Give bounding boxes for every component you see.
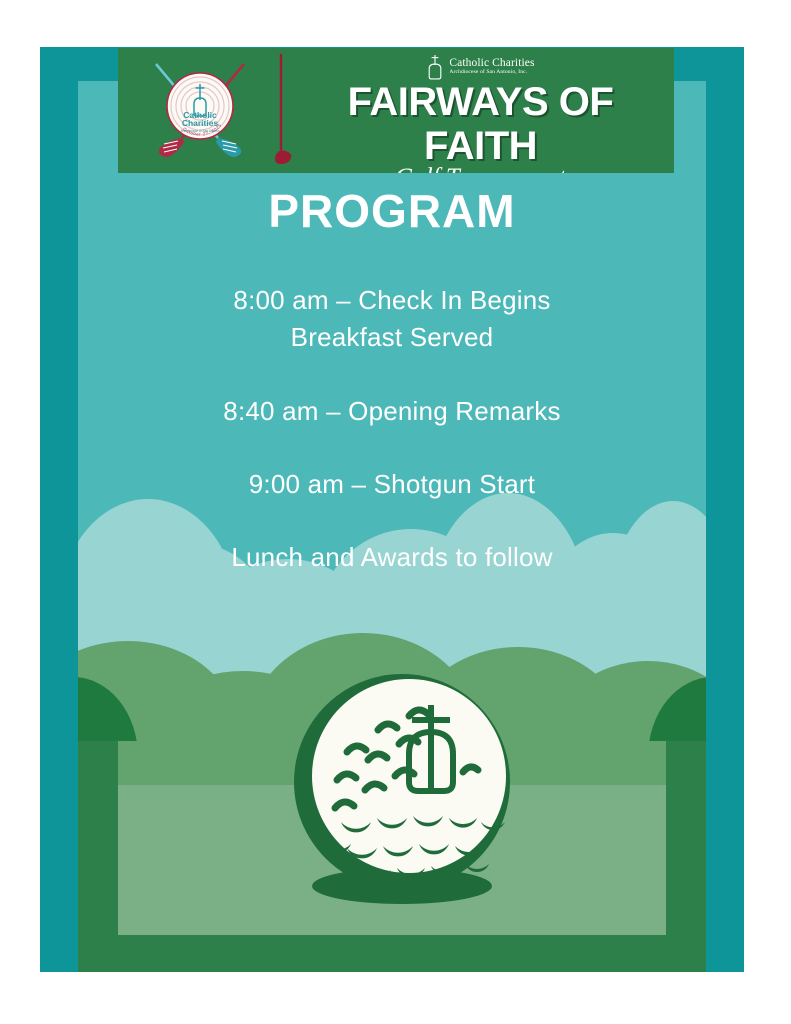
ground-band-bottom [78,935,706,972]
catholic-charities-bell-cross-icon [426,54,444,80]
catholic-charities-text: Catholic Charities Archdiocese of San An… [449,58,534,75]
charity-subtitle: Archdiocese of San Antonio, Inc. [449,70,534,76]
svg-text:Charities: Charities [182,118,219,128]
program-line-5: Lunch and Awards to follow [78,539,706,576]
flyer-page: Catholic Charities Archdiocese of San An… [0,0,791,1024]
event-subtitle: Golf Tournament [293,165,668,173]
program-block: PROGRAM 8:00 am – Check In Begins Breakf… [78,185,706,576]
golf-ball-with-cross-icon [285,672,520,912]
page-title: PROGRAM [78,185,706,237]
event-title: FAIRWAYS OF FAITH [293,80,668,168]
program-line-2: Breakfast Served [78,319,706,356]
catholic-charities-lockup: Catholic Charities Archdiocese of San An… [293,52,668,82]
program-line-1: 8:00 am – Check In Begins [78,282,706,319]
banner-text-block: Catholic Charities Archdiocese of San An… [293,52,668,170]
event-banner: Catholic Charities Archdiocese of San An… [118,48,674,173]
golf-ball-with-crossed-clubs-logo: Catholic Charities Archdiocese of San An… [140,56,260,164]
program-line-4: 9:00 am – Shotgun Start [78,466,706,503]
program-line-3: 8:40 am – Opening Remarks [78,393,706,430]
